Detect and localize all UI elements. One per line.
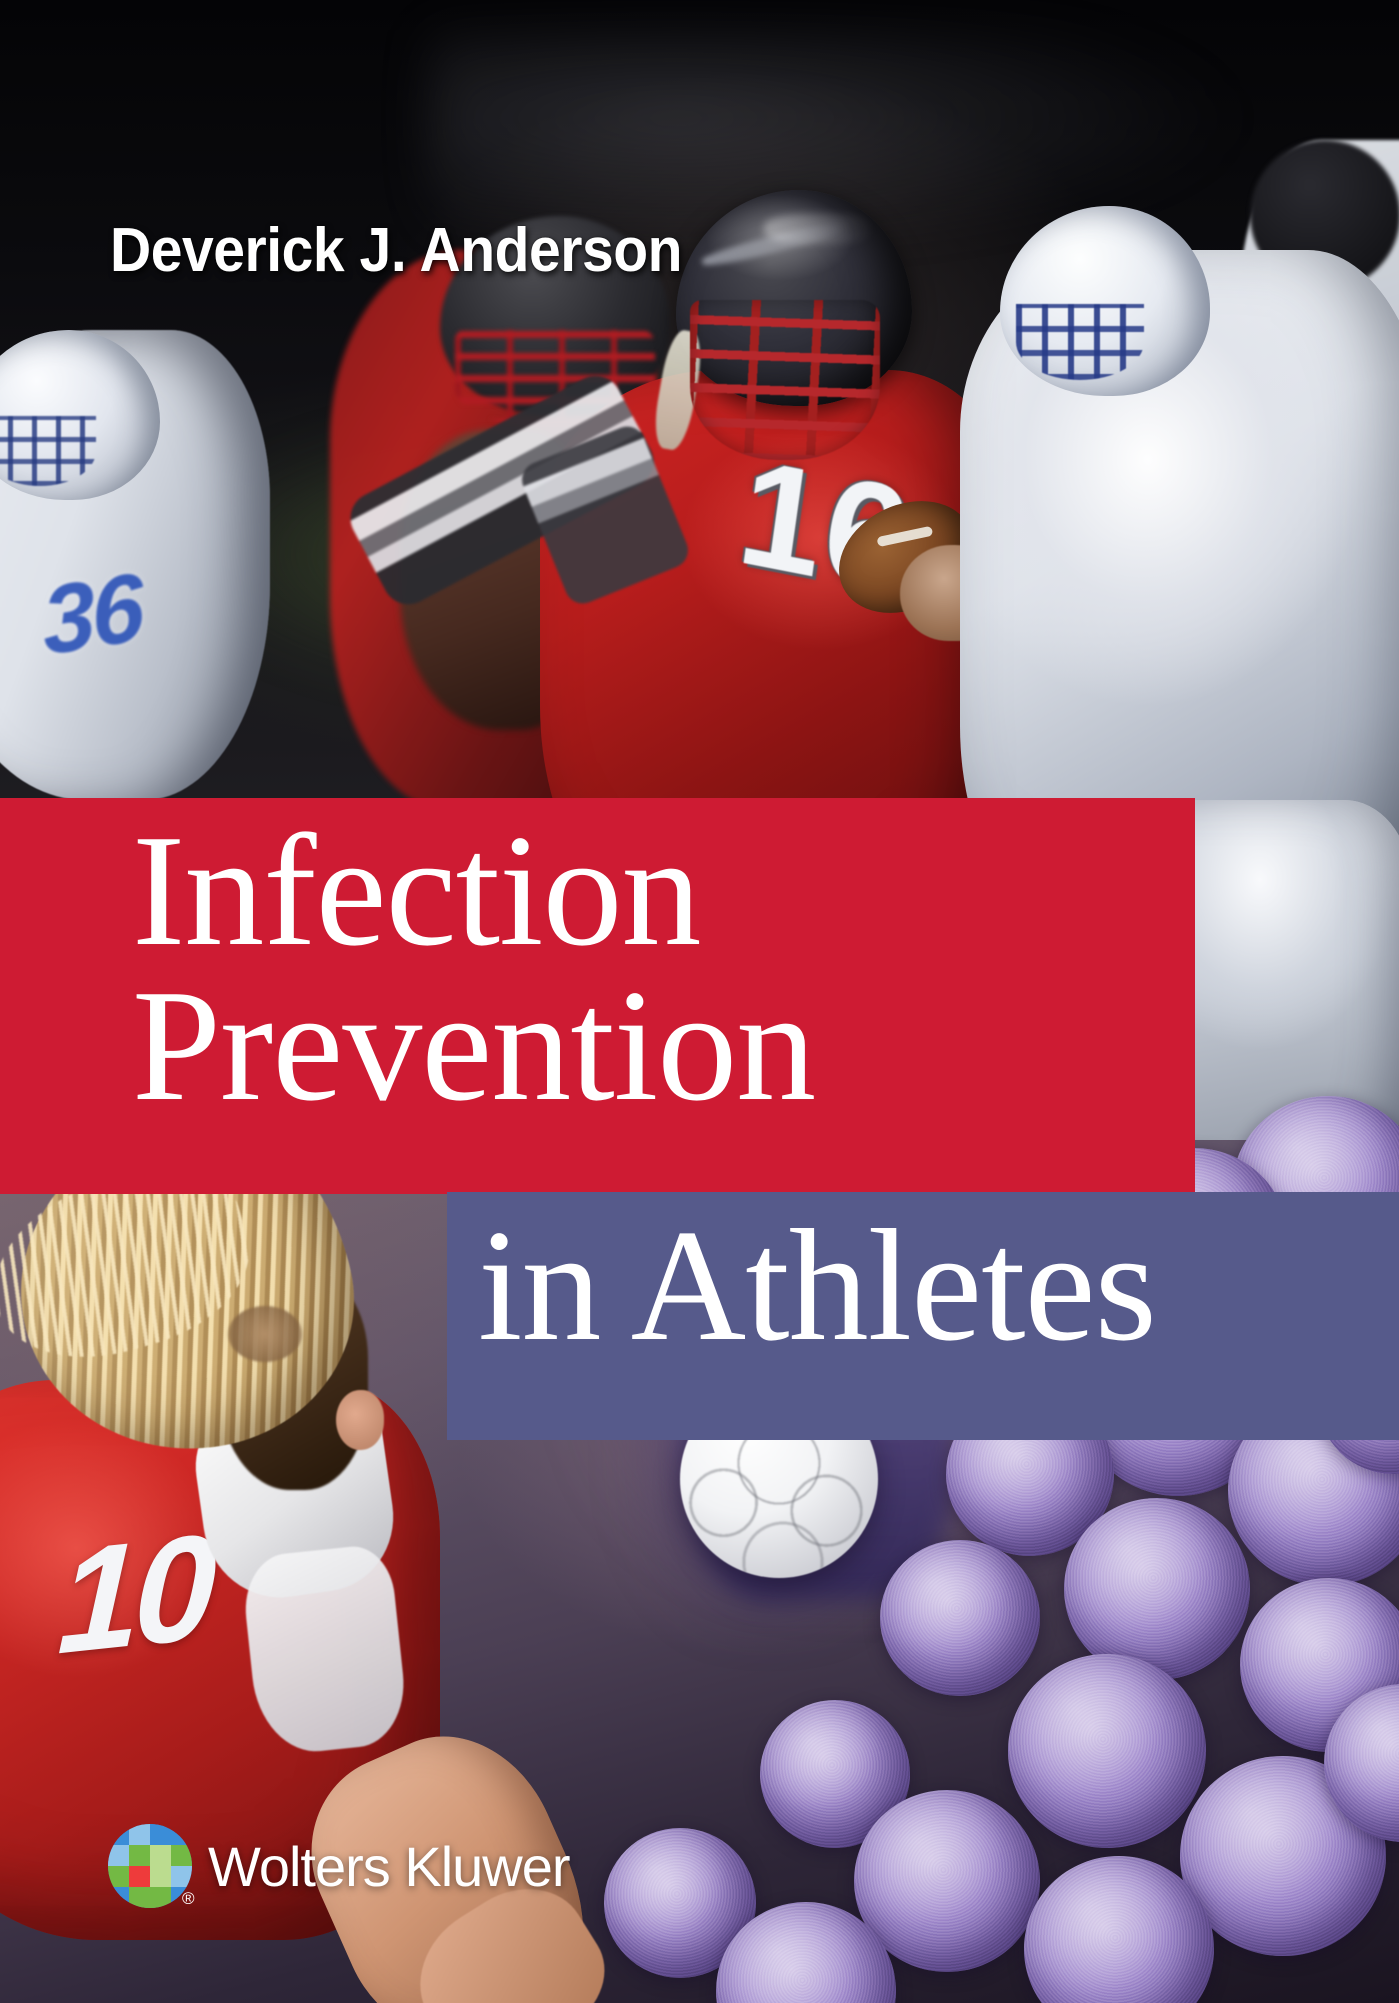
page-title-line-1: Infection: [132, 810, 701, 970]
bacterium: [1064, 1498, 1250, 1680]
publisher-name: Wolters Kluwer: [208, 1834, 570, 1899]
page-title-line-2: Prevention: [132, 965, 815, 1125]
ponytail-band: [228, 1306, 302, 1362]
ball-carrier-facemask: [690, 300, 880, 460]
author-name: Deverick J. Anderson: [110, 215, 682, 286]
page-title-line-3: in Athletes: [478, 1205, 1156, 1365]
bacterium: [880, 1540, 1040, 1696]
bacterium: [1008, 1654, 1206, 1848]
book-cover: 36 16 10: [0, 0, 1399, 2003]
publisher-logo: ® Wolters Kluwer: [108, 1824, 570, 1908]
registered-trademark-icon: ®: [182, 1890, 195, 1907]
soccer-player-ear: [336, 1390, 384, 1450]
wolters-kluwer-mark-icon: [108, 1824, 192, 1908]
opponent-jersey-number: 36: [39, 552, 144, 678]
soccer-jersey-number: 10: [55, 1501, 213, 1689]
